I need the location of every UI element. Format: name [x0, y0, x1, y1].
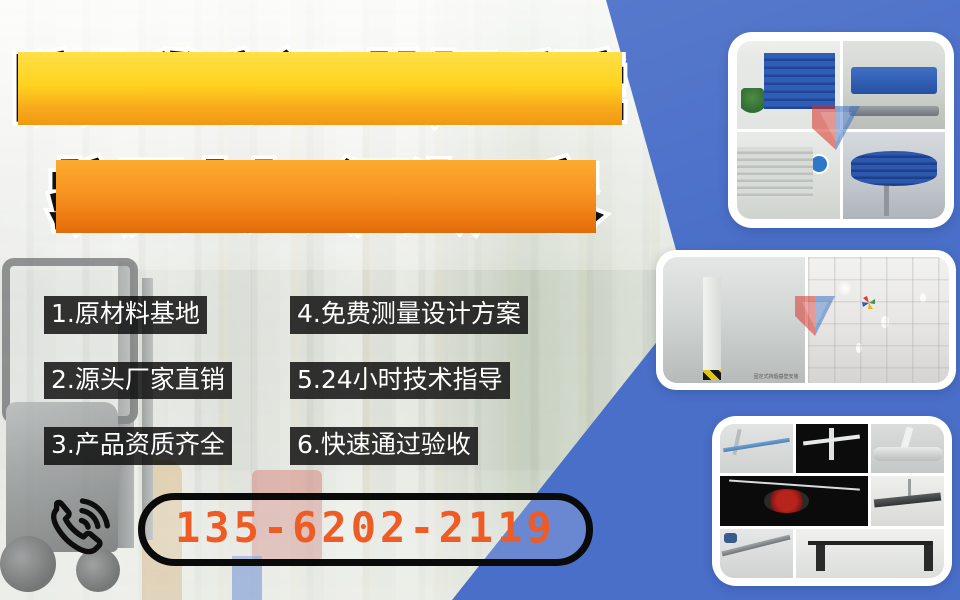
phone-number: 135-6202-2119	[175, 503, 556, 552]
photo-ceiling-pipe-brace	[720, 424, 793, 473]
photo-caption: 固定式挡烟垂壁安装	[753, 373, 798, 380]
collage-seismic-bracing	[712, 416, 952, 586]
feature-label: 4.免费测量设计方案	[290, 296, 528, 334]
phone-number-box[interactable]: 135-6202-2119	[138, 493, 593, 566]
advertising-banner: STILL RX60 防火卷帘门-挡烟垂壁 防火卷帘门-挡烟垂壁 防火卷帘门-挡…	[0, 0, 960, 600]
photo-duct-fan-brace	[720, 476, 868, 525]
feature-label: 6.快速通过验收	[290, 427, 478, 465]
collage-grid: 固定式挡烟垂壁安装	[663, 257, 949, 383]
contact-row: 135-6202-2119	[42, 492, 593, 566]
collage-grid	[737, 41, 945, 219]
feature-label: 2.源头厂家直销	[44, 362, 232, 400]
photo-grey-shutter-corridor	[737, 132, 840, 220]
photo-seismic-frame-room	[796, 529, 944, 578]
feature-item: 5.24小时技术指导	[290, 362, 528, 400]
feature-item: 4.免费测量设计方案	[290, 296, 528, 334]
pinwheel-decoration	[861, 295, 877, 311]
feature-label: 1.原材料基地	[44, 296, 207, 334]
photo-rolling-shutter-lobby	[737, 41, 840, 129]
collage-interior-installations: 固定式挡烟垂壁安装	[656, 250, 956, 390]
feature-column-right: 4.免费测量设计方案 5.24小时技术指导 6.快速通过验收	[290, 296, 528, 493]
photo-suspended-ceiling	[808, 257, 950, 383]
feature-item: 2.源头厂家直销	[44, 362, 232, 400]
feature-column-left: 1.原材料基地 2.源头厂家直销 3.产品资质齐全	[44, 296, 232, 493]
feature-item: 1.原材料基地	[44, 296, 232, 334]
phone-ringing-icon	[42, 492, 116, 566]
photo-pipe-clamp-support	[871, 424, 944, 473]
photo-steel-coil	[843, 132, 946, 220]
headline-primary: 防火卷帘门-挡烟垂壁 防火卷帘门-挡烟垂壁 防火卷帘门-挡烟垂壁	[18, 38, 622, 128]
headline-secondary-text: 抗震支架-源头厂家	[56, 160, 596, 233]
photo-dual-pipe-hanger	[796, 424, 869, 473]
feature-item: 6.快速通过验收	[290, 427, 528, 465]
headline-primary-text: 防火卷帘门-挡烟垂壁	[18, 52, 622, 125]
collage-fire-shutter-doors	[728, 32, 954, 228]
feature-label: 3.产品资质齐全	[44, 427, 232, 465]
feature-item: 3.产品资质齐全	[44, 427, 232, 465]
photo-parking-garage: 固定式挡烟垂壁安装	[663, 257, 805, 383]
photo-cable-tray-brace	[720, 529, 793, 578]
collage-grid	[720, 424, 944, 578]
headline-secondary: 抗震支架-源头厂家 抗震支架-源头厂家 抗震支架-源头厂家	[56, 146, 596, 236]
feature-label: 5.24小时技术指导	[290, 362, 510, 400]
photo-ceiling-duct-brace	[871, 476, 944, 525]
photo-roll-forming-machine	[843, 41, 946, 129]
